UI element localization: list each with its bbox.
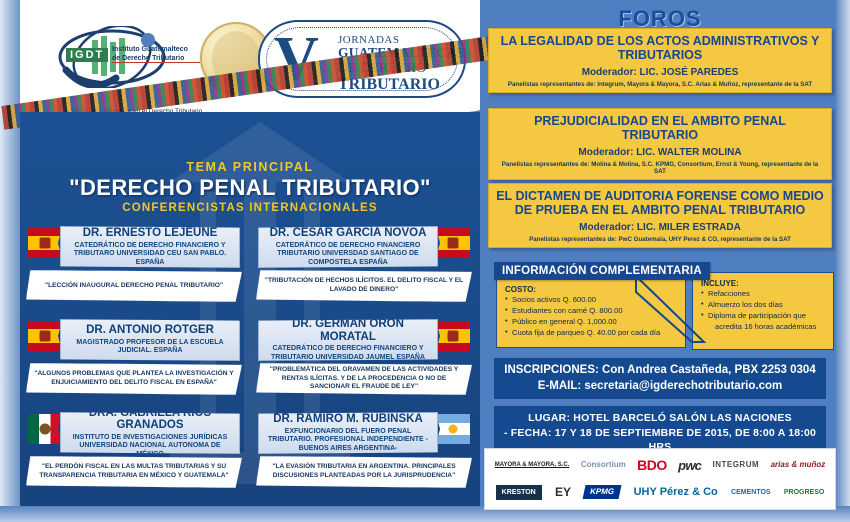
foro-panelists: Panelistas representantes de: PwC Guatem… bbox=[495, 236, 825, 243]
speaker-card-5[interactable]: DR. RAMIRO M. RUBINSKA EXFUNCIONARIO DEL… bbox=[256, 408, 472, 496]
flag-emblem-icon bbox=[448, 331, 459, 342]
speaker-role: INSTITUTO DE INVESTIGACIONES JURÍDICAS U… bbox=[66, 434, 234, 459]
speaker-card-0[interactable]: DR. ERNESTO LEJEUNE CATEDRÁTICO DE DEREC… bbox=[26, 222, 242, 310]
foro-card-1[interactable]: PREJUDICIALIDAD EN EL AMBITO PENAL TRIBU… bbox=[488, 108, 832, 180]
speaker-quotebox: "PROBLEMÁTICA DEL GRAVAMEN DE LAS ACTIVI… bbox=[256, 363, 472, 395]
speaker-namebox: DRA. GABRIELA RÍOS GRANADOS INSTITUTO DE… bbox=[60, 412, 240, 454]
speaker-quote: "ALGUNOS PROBLEMAS QUE PLANTEA LA INVEST… bbox=[33, 370, 235, 387]
sponsor-mayora: MAYORA & MAYORA, S.C. bbox=[495, 462, 570, 468]
info-connector-line bbox=[634, 272, 714, 352]
info-incluye-item-text: Diploma de participación que bbox=[708, 311, 806, 320]
flag-es-icon bbox=[436, 228, 470, 258]
flag-emblem-icon bbox=[40, 331, 51, 342]
inscripciones-box[interactable]: INSCRIPCIONES: Con Andrea Castañeda, PBX… bbox=[494, 358, 826, 399]
speaker-quotebox: "LA EVASIÓN TRIBUTARIA EN ARGENTINA. PRI… bbox=[256, 456, 472, 488]
speaker-row: DR. ANTONIO ROTGER MAGISTRADO PROFESOR D… bbox=[20, 315, 480, 408]
speaker-quotebox: "EL PERDÓN FISCAL EN LAS MULTAS TRIBUTAR… bbox=[26, 456, 242, 488]
foro-card-2[interactable]: EL DICTAMEN DE AUDITORIA FORENSE COMO ME… bbox=[488, 183, 832, 248]
speaker-role: CATEDRÁTICO DE DERECHO FINANCIERO Y TRIB… bbox=[264, 345, 432, 362]
sponsor-bdo-mark: BDO bbox=[637, 457, 667, 473]
speaker-name: DRA. GABRIELA RÍOS GRANADOS bbox=[66, 407, 234, 432]
sponsor-integrum: INTEGRUM bbox=[712, 461, 759, 469]
inscripciones-line2[interactable]: E-MAIL: secretaria@igderechotributario.c… bbox=[498, 379, 822, 395]
flag-mx-icon bbox=[28, 414, 62, 444]
speaker-namebox: DR. ANTONIO ROTGER MAGISTRADO PROFESOR D… bbox=[60, 319, 240, 361]
poster-root: IGDT Instituto Guatemalteco de Derecho T… bbox=[0, 0, 850, 522]
sponsor-cementos: CEMENTOS bbox=[731, 489, 771, 496]
info-complementaria-tab: INFORMACIÓN COMPLEMENTARIA bbox=[494, 262, 710, 280]
speaker-namebox: DR. GERMÁN ORÓN MORATAL CATEDRÁTICO DE D… bbox=[258, 319, 438, 361]
sponsor-pwc: pwc bbox=[678, 459, 701, 473]
info-incluye-heading: INCLUYE: bbox=[701, 279, 827, 288]
speaker-role: MAGISTRADO PROFESOR DE LA ESCUELA JUDICI… bbox=[66, 339, 234, 356]
sponsor-uhy: UHY Pérez & Co bbox=[634, 487, 718, 499]
conferencistas-subtitle: CONFERENCISTAS INTERNACIONALES bbox=[20, 202, 480, 214]
speaker-name: DR. GERMÁN ORÓN MORATAL bbox=[264, 318, 432, 343]
right-column: FOROS LA LEGALIDAD DE LOS ACTOS ADMINIST… bbox=[484, 0, 836, 522]
igdt-acronym: IGDT bbox=[66, 48, 108, 62]
foro-heading: LA LEGALIDAD DE LOS ACTOS ADMINISTRATIVO… bbox=[495, 34, 825, 63]
speaker-card-3[interactable]: DR. GERMÁN ORÓN MORATAL CATEDRÁTICO DE D… bbox=[256, 315, 472, 403]
info-incluye-item-cont: acredita 16 horas académicas bbox=[708, 321, 827, 332]
igdt-name-line2: de Derecho Tributario bbox=[112, 55, 184, 62]
sponsors-row-2: KRESTON EY KPMG UHY Pérez & Co CEMENTOS … bbox=[489, 480, 831, 506]
sponsor-kpmg: KPMG bbox=[583, 485, 622, 499]
speaker-quote: "EL PERDÓN FISCAL EN LAS MULTAS TRIBUTAR… bbox=[33, 463, 235, 480]
speaker-role: CATEDRÁTICO DE DERECHO FINANCIERO Y TRIB… bbox=[66, 242, 234, 267]
flag-es-icon bbox=[28, 228, 62, 258]
page-edge-right bbox=[836, 0, 850, 522]
speaker-name: DR. CÉSAR GARCÍA NOVOA bbox=[264, 227, 432, 240]
flag-es-icon bbox=[436, 321, 470, 351]
foro-panelists: Panelistas representantes de: Integrum, … bbox=[495, 81, 825, 88]
speaker-quotebox: "TRIBUTACIÓN DE HECHOS ILÍCITOS. EL DELI… bbox=[256, 270, 472, 302]
sponsor-kreston: KRESTON bbox=[496, 485, 542, 500]
left-blue-panel: TEMA PRINCIPAL "DERECHO PENAL TRIBUTARIO… bbox=[20, 112, 480, 506]
speaker-card-4[interactable]: DRA. GABRIELA RÍOS GRANADOS INSTITUTO DE… bbox=[26, 408, 242, 496]
foro-card-0[interactable]: LA LEGALIDAD DE LOS ACTOS ADMINISTRATIVO… bbox=[488, 28, 832, 93]
sponsor-consortium: Consortium bbox=[581, 461, 626, 469]
info-incluye-item: Almuerzo los dos días bbox=[701, 299, 827, 310]
info-incluye-item: Diploma de participación que acredita 16… bbox=[701, 310, 827, 332]
speaker-namebox: DR. RAMIRO M. RUBINSKA EXFUNCIONARIO DEL… bbox=[258, 412, 438, 454]
foro-moderator: Moderador: LIC. WALTER MOLINA bbox=[495, 147, 825, 158]
speaker-name: DR. ANTONIO ROTGER bbox=[66, 324, 234, 337]
lugar-line: LUGAR: HOTEL BARCELÓ SALÓN LAS NACIONES bbox=[498, 411, 822, 426]
speaker-name: DR. RAMIRO M. RUBINSKA bbox=[264, 413, 432, 426]
foro-heading: PREJUDICIALIDAD EN EL AMBITO PENAL TRIBU… bbox=[495, 114, 825, 143]
flag-emblem-icon bbox=[449, 425, 458, 434]
sponsor-arias-munoz: arias & muñoz bbox=[771, 461, 826, 469]
flag-es-icon bbox=[28, 321, 62, 351]
igdt-underline bbox=[112, 62, 200, 63]
sponsor-bdo: BDO bbox=[637, 458, 667, 473]
tema-principal-title: "DERECHO PENAL TRIBUTARIO" bbox=[20, 175, 480, 201]
speaker-namebox: DR. ERNESTO LEJEUNE CATEDRÁTICO DE DEREC… bbox=[60, 226, 240, 268]
flag-emblem-icon bbox=[448, 238, 459, 249]
foro-heading: EL DICTAMEN DE AUDITORIA FORENSE COMO ME… bbox=[495, 189, 825, 218]
speaker-quote: "LA EVASIÓN TRIBUTARIA EN ARGENTINA. PRI… bbox=[263, 463, 465, 480]
speaker-quote: "TRIBUTACIÓN DE HECHOS ILÍCITOS. EL DELI… bbox=[263, 277, 465, 294]
speaker-namebox: DR. CÉSAR GARCÍA NOVOA CATEDRÁTICO DE DE… bbox=[258, 226, 438, 268]
flag-ar-icon bbox=[436, 414, 470, 444]
flag-emblem-icon bbox=[40, 238, 51, 249]
sponsors-row-1: MAYORA & MAYORA, S.C. Consortium BDO pwc… bbox=[489, 453, 831, 479]
igdt-name-line1: Instituto Guatemalteco bbox=[112, 46, 188, 53]
tema-principal-label: TEMA PRINCIPAL bbox=[20, 160, 480, 174]
speaker-quotebox: "LECCIÓN INAUGURAL DERECHO PENAL TRIBUTA… bbox=[26, 270, 242, 302]
speaker-quote: "PROBLEMÁTICA DEL GRAVAMEN DE LAS ACTIVI… bbox=[263, 366, 465, 392]
sponsors-panel: MAYORA & MAYORA, S.C. Consortium BDO pwc… bbox=[484, 448, 836, 510]
speaker-quote: "LECCIÓN INAUGURAL DERECHO PENAL TRIBUTA… bbox=[45, 282, 223, 291]
speaker-card-2[interactable]: DR. ANTONIO ROTGER MAGISTRADO PROFESOR D… bbox=[26, 315, 242, 403]
page-edge-left bbox=[0, 0, 20, 522]
speaker-row: DRA. GABRIELA RÍOS GRANADOS INSTITUTO DE… bbox=[20, 408, 480, 501]
igdt-name: Instituto Guatemalteco de Derecho Tribut… bbox=[112, 46, 204, 64]
foro-panelists: Panelistas representantes de: Molina & M… bbox=[495, 161, 825, 175]
sponsor-progreso: PROGRESO bbox=[784, 489, 824, 496]
info-incluye-item: Refacciones bbox=[701, 288, 827, 299]
speaker-card-1[interactable]: DR. CÉSAR GARCÍA NOVOA CATEDRÁTICO DE DE… bbox=[256, 222, 472, 310]
speaker-role: CATEDRÁTICO DE DERECHO FINANCIERO TRIBUT… bbox=[264, 242, 432, 267]
sponsor-ey: EY bbox=[555, 486, 571, 499]
speaker-role: EXFUNCIONARIO DEL FUERO PENAL TRIBUTARIO… bbox=[264, 428, 432, 453]
inscripciones-line1: INSCRIPCIONES: Con Andrea Castañeda, PBX… bbox=[498, 363, 822, 379]
speakers-grid: DR. ERNESTO LEJEUNE CATEDRÁTICO DE DEREC… bbox=[20, 222, 480, 501]
speaker-row: DR. ERNESTO LEJEUNE CATEDRÁTICO DE DEREC… bbox=[20, 222, 480, 315]
flag-emblem-icon bbox=[40, 424, 51, 435]
foro-moderator: Moderador: LIC. JOSÉ PAREDES bbox=[495, 67, 825, 78]
speaker-name: DR. ERNESTO LEJEUNE bbox=[66, 227, 234, 240]
foro-moderator: Moderador: LIC. MILER ESTRADA bbox=[495, 222, 825, 233]
speaker-quotebox: "ALGUNOS PROBLEMAS QUE PLANTEA LA INVEST… bbox=[26, 363, 242, 395]
